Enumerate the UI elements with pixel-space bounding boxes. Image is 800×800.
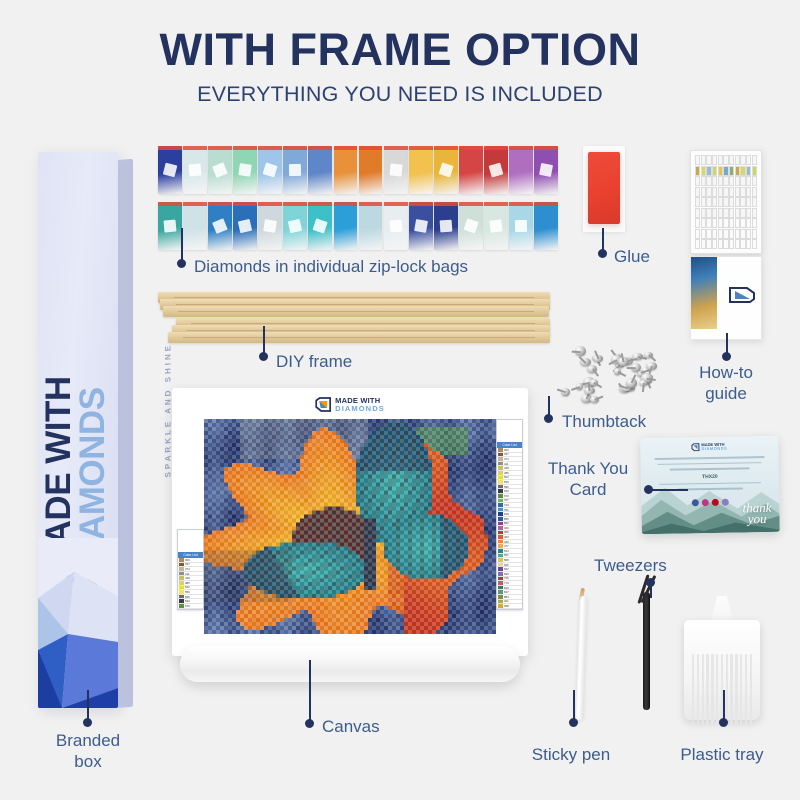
color-code: 884: [504, 595, 509, 599]
guide-chart-cell: [723, 239, 728, 249]
zip-lock-bag: [283, 146, 307, 194]
guide-chart-cell: [695, 166, 700, 176]
guide-chart-cell: [746, 229, 751, 239]
guide-chart-cell: [723, 208, 728, 218]
instagram-icon: [702, 499, 709, 506]
thumbtack: [593, 355, 602, 362]
guide-chart-cell: [740, 218, 745, 228]
guide-chart-cell: [735, 229, 740, 239]
color-swatch: [498, 595, 503, 599]
color-swatch: [179, 567, 184, 571]
guide-chart-cell: [752, 208, 757, 218]
guide-chart-cell: [695, 155, 700, 165]
zip-lock-bag: [334, 202, 358, 250]
thumbtack-pin: [627, 367, 636, 369]
guide-chart-cell: [729, 229, 734, 239]
color-swatch: [498, 540, 503, 544]
color-swatch: [498, 471, 503, 475]
bag-zip-seal: [509, 146, 533, 150]
dot-sticky-pen: [569, 718, 578, 727]
bag-label-tag: [313, 219, 329, 235]
guide-chart-cell: [746, 239, 751, 249]
zip-lock-bag: [384, 202, 408, 250]
guide-chart-cell: [740, 155, 745, 165]
guide-chart-cell: [701, 197, 706, 207]
color-swatch: [498, 489, 503, 493]
canvas-color-chart-right: Color List 30033737441144848552255959663…: [496, 419, 523, 610]
color-code: 736: [504, 576, 509, 580]
guide-chart-cell: [712, 176, 717, 186]
zip-lock-bag: [459, 146, 483, 194]
guide-chart-cell: [740, 208, 745, 218]
zip-lock-bag: [509, 202, 533, 250]
label-thank-you-card: Thank You Card: [536, 458, 640, 500]
card-social-icons: [692, 499, 729, 507]
bag-label-tag: [238, 219, 253, 234]
zip-lock-bag: [308, 146, 332, 194]
color-swatch: [498, 522, 503, 526]
thumbtack-pin: [572, 351, 581, 353]
color-code: 366: [504, 530, 509, 534]
bag-zip-seal: [384, 146, 408, 150]
guide-chart-cell: [735, 218, 740, 228]
canvas-artwork: [204, 419, 496, 634]
guide-chart-cell: [695, 218, 700, 228]
leader-diy-frame: [263, 326, 265, 354]
bag-row-bottom: [158, 202, 558, 250]
guide-chart-cell: [695, 229, 700, 239]
guide-chart-cell: [706, 208, 711, 218]
guide-chart-cell: [752, 187, 757, 197]
guide-chart-cell: [752, 218, 757, 228]
infographic-canvas: WITH FRAME OPTION EVERYTHING YOU NEED IS…: [0, 0, 800, 800]
guide-chart-cell: [701, 187, 706, 197]
color-code: 559: [185, 590, 190, 594]
label-diy-frame: DIY frame: [276, 351, 352, 372]
bag-label-tag: [288, 219, 303, 234]
leader-sticky-pen: [573, 690, 575, 720]
color-code: 855: [504, 517, 509, 521]
color-code: 403: [504, 535, 509, 539]
color-swatch: [498, 581, 503, 585]
thumbtack-pin: [592, 369, 599, 377]
zip-lock-bag: [258, 146, 282, 194]
color-code: 625: [504, 563, 509, 567]
color-code: 662: [504, 567, 509, 571]
color-swatch: [498, 549, 503, 553]
bag-zip-seal: [484, 146, 508, 150]
bag-label-tag: [488, 163, 503, 178]
thumbtack: [590, 379, 598, 386]
card-text-line: [670, 467, 749, 470]
color-swatch: [498, 462, 503, 466]
guide-chart-cell: [723, 187, 728, 197]
zip-lock-bag: [208, 202, 232, 250]
tray-rib: [730, 654, 732, 726]
tray-rib: [697, 654, 699, 726]
color-swatch: [498, 586, 503, 590]
color-code: 411: [504, 462, 508, 466]
thumbtack-pin: [571, 386, 580, 390]
color-swatch: [498, 572, 503, 576]
bag-label-tag: [389, 220, 402, 233]
zip-lock-bag: [158, 146, 182, 194]
color-code: 633: [185, 599, 190, 603]
guide-chart-cell: [718, 166, 723, 176]
color-code: 551: [504, 553, 509, 557]
zip-lock-bag: [208, 146, 232, 194]
chart-rows-left: 300337374411448485522559596633670: [178, 558, 203, 609]
canvas-sheet: MADE WITH DIAMONDS Color List 3003373744…: [172, 388, 528, 656]
color-swatch: [498, 577, 503, 581]
bag-zip-seal: [183, 146, 207, 150]
thumbtack: [618, 357, 628, 365]
bag-zip-seal: [409, 202, 433, 206]
bag-zip-seal: [484, 202, 508, 206]
diy-frame-slats: [158, 292, 554, 348]
guide-chart-cell: [718, 218, 723, 228]
how-to-guide: [690, 150, 762, 340]
color-code: 588: [504, 558, 509, 562]
color-code: 485: [185, 581, 190, 585]
guide-brochure: [690, 256, 762, 340]
bag-zip-seal: [308, 202, 332, 206]
bag-label-tag: [515, 220, 528, 233]
guide-chart-cell: [735, 166, 740, 176]
bag-zip-seal: [233, 202, 257, 206]
color-swatch: [179, 581, 184, 585]
thumbtack-pin: [557, 389, 566, 393]
dot-glue: [598, 249, 607, 258]
color-swatch: [498, 466, 503, 470]
tray-rib: [711, 654, 713, 726]
zip-lock-bag: [409, 146, 433, 194]
color-code: 358: [504, 604, 509, 608]
zip-lock-bag: [434, 146, 458, 194]
color-swatch: [498, 531, 503, 535]
zip-lock-bags-group: [158, 146, 558, 250]
color-swatch: [498, 485, 503, 489]
guide-chart-cell: [735, 208, 740, 218]
bag-label-tag: [263, 219, 277, 233]
zip-lock-bag: [434, 202, 458, 250]
dot-plastic-tray: [719, 718, 728, 727]
color-swatch: [498, 558, 503, 562]
color-swatch: [179, 576, 184, 580]
guide-chart-cell: [712, 155, 717, 165]
guide-chart-cell: [706, 197, 711, 207]
dot-tweezers: [646, 578, 655, 587]
prism-logo-icon: [315, 397, 331, 412]
zip-lock-bag: [409, 202, 433, 250]
zip-lock-bag: [183, 202, 207, 250]
guide-chart-cell: [701, 166, 706, 176]
color-code: 818: [504, 512, 509, 516]
dot-branded-box: [83, 718, 92, 727]
color-swatch: [498, 494, 503, 498]
bag-zip-seal: [459, 202, 483, 206]
bag-label-tag: [414, 219, 428, 233]
guide-chart-cell: [718, 239, 723, 249]
guide-chart-cell: [752, 176, 757, 186]
guide-chart-cell: [740, 229, 745, 239]
canvas-color-chart-left: Color List 30033737441144848552255959663…: [177, 529, 204, 610]
bag-label-tag: [439, 220, 452, 233]
guide-chart-cell: [695, 176, 700, 186]
color-swatch: [179, 604, 184, 608]
color-code: 411: [185, 572, 189, 576]
bag-zip-seal: [258, 146, 282, 150]
color-swatch: [179, 595, 184, 599]
guide-chart-cell: [712, 218, 717, 228]
color-code: 670: [185, 604, 190, 608]
color-swatch: [498, 590, 503, 594]
color-swatch: [179, 586, 184, 590]
guide-chart-cell: [695, 208, 700, 218]
bag-label-tag: [489, 219, 503, 233]
thumbtack-pin: [594, 351, 599, 360]
guide-chart-cell: [706, 176, 711, 186]
thumbtack-pin: [621, 353, 625, 362]
prism-logo-icon: [691, 443, 699, 451]
thumbtack-pin: [648, 354, 656, 361]
color-swatch: [498, 535, 503, 539]
bag-label-tag: [389, 164, 403, 178]
guide-chart-cell: [706, 229, 711, 239]
guide-brand-logo-icon: [729, 287, 755, 303]
thumbtack: [646, 362, 657, 370]
guide-chart-cell: [746, 218, 751, 228]
color-code: 670: [504, 494, 509, 498]
leader-plastic-tray: [723, 690, 725, 720]
tray-rib: [750, 654, 752, 726]
guide-chart-cell: [752, 229, 757, 239]
thumbtack: [575, 346, 586, 356]
zip-lock-bag: [258, 202, 282, 250]
canvas-kit: MADE WITH DIAMONDS Color List 3003373744…: [172, 388, 528, 686]
color-code: 781: [504, 508, 509, 512]
tray-rib: [702, 654, 704, 726]
thumbtack: [590, 396, 599, 404]
guide-chart-cell: [723, 176, 728, 186]
leader-canvas: [309, 660, 311, 722]
color-code: 596: [504, 485, 509, 489]
color-swatch: [498, 508, 503, 512]
guide-chart-cell: [746, 187, 751, 197]
canvas-roll: [180, 646, 520, 682]
guide-chart-cell: [701, 229, 706, 239]
canvas-logo-line2: DIAMONDS: [335, 405, 385, 413]
color-code: 559: [504, 480, 509, 484]
color-swatch: [498, 512, 503, 516]
page-title: WITH FRAME OPTION: [0, 24, 800, 76]
guide-chart-cell: [735, 155, 740, 165]
tray-rib: [706, 654, 708, 726]
guide-chart-cell: [729, 197, 734, 207]
zip-lock-bag: [233, 202, 257, 250]
zip-lock-bag: [484, 202, 508, 250]
guide-chart-cell: [706, 218, 711, 228]
color-code: 337: [185, 562, 190, 566]
label-canvas: Canvas: [322, 716, 380, 737]
guide-chart-cell: [695, 187, 700, 197]
color-swatch: [179, 572, 184, 576]
guide-chart-cell: [723, 229, 728, 239]
color-swatch: [498, 517, 503, 521]
color-code: 699: [504, 572, 509, 576]
thumbtack: [614, 368, 622, 374]
page-subtitle: EVERYTHING YOU NEED IS INCLUDED: [0, 82, 800, 107]
box-brand-line1: MADE WITH: [42, 152, 76, 574]
color-swatch: [498, 554, 503, 558]
guide-chart-cell: [752, 239, 757, 249]
thumbtack-pin: [642, 383, 645, 392]
guide-chart-cell: [718, 187, 723, 197]
frame-slat: [163, 306, 549, 317]
label-glue: Glue: [614, 246, 650, 267]
guide-chart-cell: [746, 208, 751, 218]
color-code: 707: [504, 498, 509, 502]
card-thank-you-script: thank you: [742, 502, 771, 525]
thumbtack: [587, 365, 597, 374]
tray-rib: [692, 654, 694, 726]
color-swatch: [498, 480, 503, 484]
guide-chart-cell: [695, 197, 700, 207]
guide-chart-cell: [723, 166, 728, 176]
color-code: 514: [504, 549, 509, 553]
label-branded-box: Branded box: [50, 730, 126, 772]
color-swatch: [179, 558, 184, 562]
thank-you-card: MADE WITH DIAMONDS THX20 thank you: [640, 436, 780, 534]
color-swatch: [498, 604, 503, 608]
leader-thumbtack: [548, 396, 550, 416]
dot-canvas: [305, 719, 314, 728]
bag-zip-seal: [534, 202, 558, 206]
color-code: 300: [185, 558, 190, 562]
tweezer-body: [643, 592, 650, 710]
bag-zip-seal: [334, 146, 358, 150]
canvas-logo-text: MADE WITH DIAMONDS: [335, 397, 385, 412]
color-code: 596: [185, 595, 190, 599]
dot-diamonds-bags: [177, 259, 186, 268]
guide-chart-cell: [712, 239, 717, 249]
guide-chart-cell: [746, 155, 751, 165]
color-swatch: [498, 453, 503, 457]
thumbtack-pin: [628, 359, 637, 363]
guide-chart-cell: [706, 239, 711, 249]
zip-lock-bag: [384, 146, 408, 194]
label-tweezers: Tweezers: [594, 555, 667, 576]
bag-zip-seal: [384, 202, 408, 206]
color-code: 337: [504, 452, 509, 456]
tray-rib: [740, 654, 742, 726]
thumbtack-pin: [617, 371, 626, 377]
bag-zip-seal: [409, 146, 433, 150]
bag-zip-seal: [258, 202, 282, 206]
plastic-tray: [684, 596, 760, 720]
branded-box-side: SPARKLE AND SHINE: [118, 159, 133, 708]
color-swatch: [179, 590, 184, 594]
guide-chart-cell: [723, 155, 728, 165]
zip-lock-bag: [283, 202, 307, 250]
thumbtack-pin: [578, 356, 586, 363]
guide-chart-cell: [706, 155, 711, 165]
guide-chart-cell: [718, 155, 723, 165]
guide-chart-cell: [712, 208, 717, 218]
canvas-diamond-grid: [204, 419, 496, 634]
color-code: 810: [504, 586, 509, 590]
bag-label-tag: [289, 164, 302, 177]
card-brand-logo: MADE WITH DIAMONDS: [691, 443, 727, 452]
guide-chart-cell: [695, 239, 700, 249]
bag-label-tag: [463, 219, 479, 235]
guide-chart-cell: [701, 239, 706, 249]
guide-chart-cell: [712, 229, 717, 239]
bag-label-tag: [263, 163, 279, 179]
label-how-to-guide: How-to guide: [688, 362, 764, 404]
guide-chart-cell: [735, 176, 740, 186]
color-code: 477: [504, 544, 509, 548]
thumbtack: [639, 380, 648, 386]
bag-label-tag: [212, 162, 228, 178]
thumbtack: [584, 387, 595, 394]
guide-chart-cell: [729, 176, 734, 186]
dot-thumbtack: [544, 414, 553, 423]
guide-chart-cell: [718, 197, 723, 207]
guide-chart-cell: [712, 197, 717, 207]
chart-thumbnail-left: [178, 530, 203, 552]
bag-zip-seal: [283, 146, 307, 150]
zip-lock-bag: [534, 146, 558, 194]
color-swatch: [498, 563, 503, 567]
color-swatch: [179, 563, 184, 567]
zip-lock-bag: [534, 202, 558, 250]
zip-lock-bag: [359, 146, 383, 194]
color-swatch: [498, 600, 503, 604]
chart-thumbnail-right: [497, 420, 522, 442]
tray-rib: [716, 654, 718, 726]
thumbtack: [561, 388, 570, 396]
bag-label-tag: [539, 163, 554, 178]
color-swatch: [498, 544, 503, 548]
color-chart-row: 670: [178, 604, 203, 609]
bag-zip-seal: [183, 202, 207, 206]
color-swatch: [498, 476, 503, 480]
tray-rib: [735, 654, 737, 726]
bag-zip-seal: [434, 202, 458, 206]
guide-chart-cell: [701, 155, 706, 165]
bag-zip-seal: [509, 202, 533, 206]
color-code: 522: [185, 585, 190, 589]
guide-chart-cell: [735, 239, 740, 249]
card-text-line: [658, 462, 761, 465]
thumbtack: [644, 352, 652, 358]
guide-chart-cell: [752, 197, 757, 207]
zip-lock-bag: [183, 146, 207, 194]
box-polygon-pattern: [38, 538, 118, 708]
guide-chart-cell: [740, 197, 745, 207]
guide-chart-cell: [712, 166, 717, 176]
bag-zip-seal: [534, 146, 558, 150]
color-swatch: [498, 526, 503, 530]
thumbtack-pin: [595, 396, 604, 401]
branded-box: SPARKLE AND SHINE MADE WITH DIAMONDS: [38, 152, 134, 712]
frame-slat: [168, 332, 550, 343]
guide-chart-cell: [729, 218, 734, 228]
chart-rows-right: 3003373744114484855225595966336707077447…: [497, 448, 522, 609]
color-swatch: [498, 448, 503, 452]
twitter-icon: [722, 499, 729, 506]
